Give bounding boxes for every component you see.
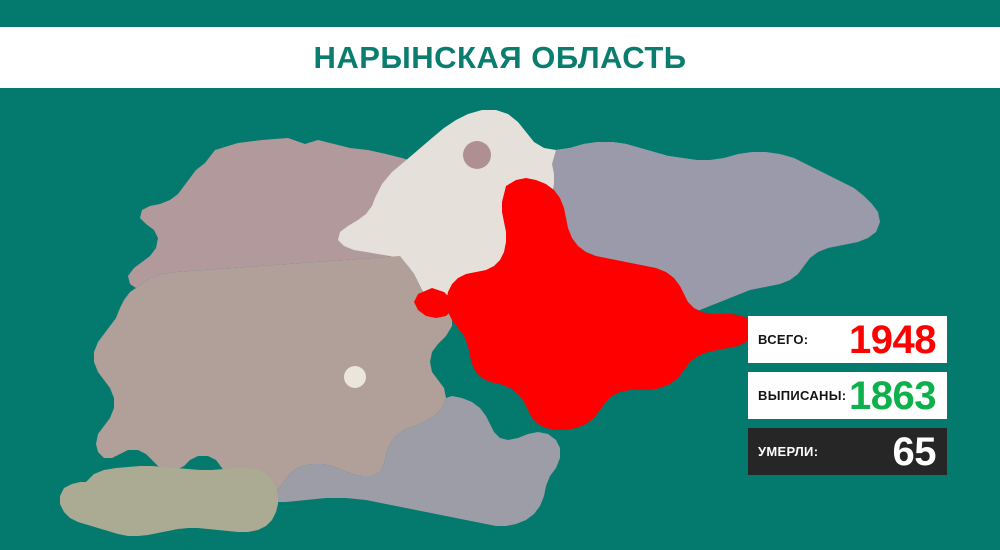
map-marker-osh[interactable] <box>344 366 366 388</box>
stat-row-discharged: ВЫПИСАНЫ: 1863 <box>748 372 947 419</box>
stat-row-total: ВСЕГО: 1948 <box>748 316 947 363</box>
stat-label-discharged: ВЫПИСАНЫ: <box>748 388 846 403</box>
infographic-page: НАРЫНСКАЯ ОБЛАСТЬ ВСЕГ <box>0 0 1000 550</box>
stat-value-total: 1948 <box>808 320 947 360</box>
stat-row-deaths: УМЕРЛИ: 65 <box>748 428 947 475</box>
map-region-batken[interactable] <box>60 466 278 536</box>
stat-value-discharged: 1863 <box>846 376 947 416</box>
stat-label-deaths: УМЕРЛИ: <box>748 444 818 459</box>
stat-value-deaths: 65 <box>818 432 947 472</box>
map-marker-bishkek[interactable] <box>463 141 491 169</box>
page-title: НАРЫНСКАЯ ОБЛАСТЬ <box>313 40 686 76</box>
stat-label-total: ВСЕГО: <box>748 332 808 347</box>
title-banner: НАРЫНСКАЯ ОБЛАСТЬ <box>0 27 1000 88</box>
top-teal-band <box>0 0 1000 27</box>
statistics-panel: ВСЕГО: 1948 ВЫПИСАНЫ: 1863 УМЕРЛИ: 65 <box>748 316 947 475</box>
